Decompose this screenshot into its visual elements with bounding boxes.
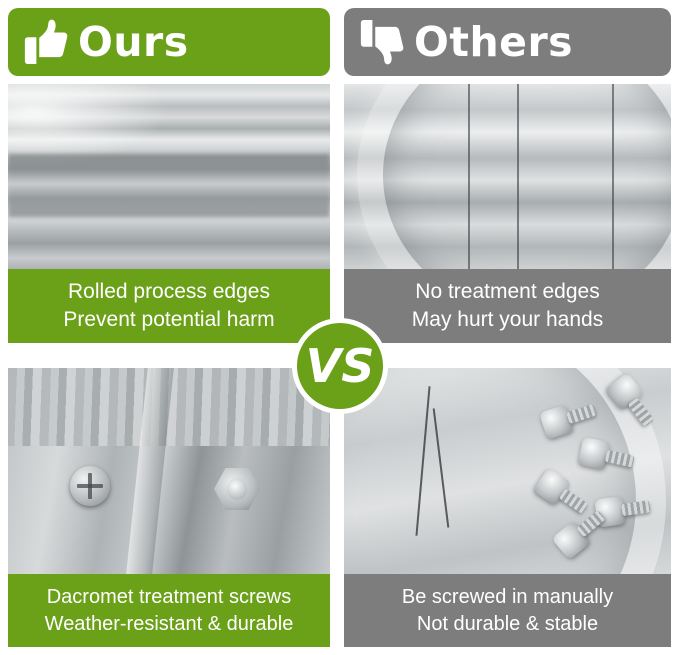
caption-line: No treatment edges [415,278,599,306]
caption-line: Dacromet treatment screws [47,584,292,610]
comparison-infographic: Ours Others Rolled process edges Prevent… [0,0,679,655]
caption-line: Be screwed in manually [402,584,613,610]
photo-others-untreated-edge [344,84,671,269]
others-label: Others [414,22,573,63]
ours-label: Ours [78,22,189,63]
thumbs-up-icon [22,17,68,67]
vs-label: VS [306,339,375,393]
hex-nut-icon [214,468,260,510]
photo-ours-dacromet-screws [8,368,330,574]
vs-badge: VS [292,318,388,414]
caption-others-top: No treatment edges May hurt your hands [344,269,671,343]
photo-ours-rolled-edge [8,84,330,269]
thumbs-down-icon [358,17,404,67]
photo-others-loose-bolts [344,368,671,574]
caption-others-bottom: Be screwed in manually Not durable & sta… [344,574,671,647]
screw-head-icon [70,466,110,506]
caption-line: Weather-resistant & durable [45,611,294,637]
caption-line: May hurt your hands [412,306,603,334]
caption-ours-bottom: Dacromet treatment screws Weather-resist… [8,574,330,647]
others-header-badge: Others [344,8,671,76]
caption-ours-top: Rolled process edges Prevent potential h… [8,269,330,343]
caption-line: Not durable & stable [417,611,598,637]
ours-header-badge: Ours [8,8,330,76]
caption-line: Rolled process edges [68,278,270,306]
caption-line: Prevent potential harm [63,306,274,334]
